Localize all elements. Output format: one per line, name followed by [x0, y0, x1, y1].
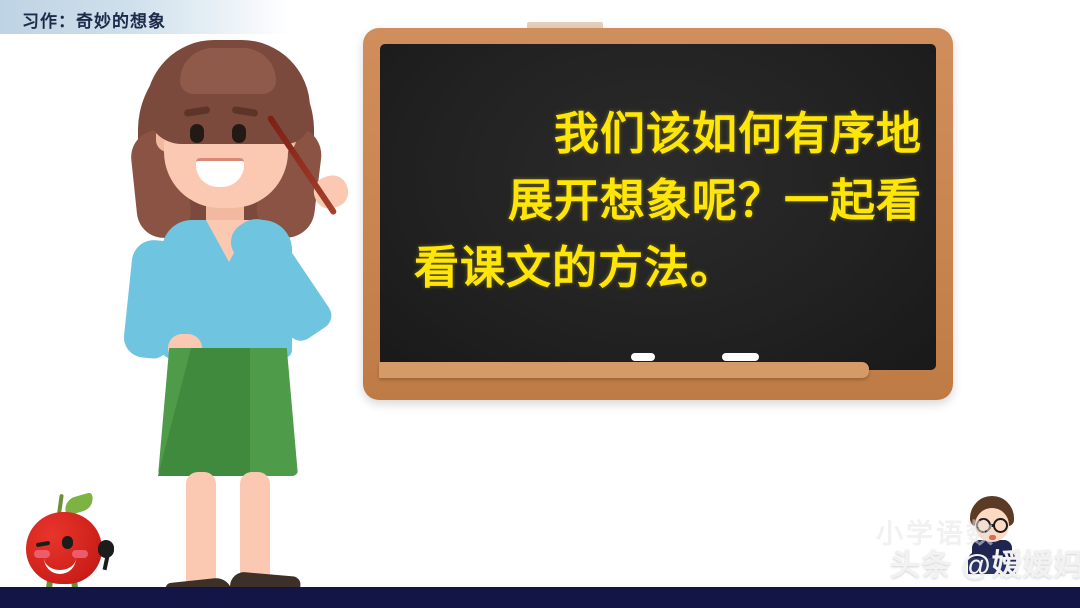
blackboard-surface: 我们该如何有序地 展开想象呢？一起看 看课文的方法。: [380, 44, 936, 370]
blackboard-text: 我们该如何有序地 展开想象呢？一起看 看课文的方法。: [402, 100, 922, 301]
apple-mascot: [10, 492, 130, 596]
presentation-slide: 习作：奇妙的想象 我们该如何有序地 展开想象呢？一起看 看课文的方法。: [0, 0, 1080, 608]
bottom-accent-bar: [0, 587, 1080, 608]
blackboard-line-3: 看课文的方法。: [402, 234, 922, 301]
chalk-piece: [722, 353, 759, 361]
apple-eye-open: [62, 536, 73, 549]
microphone-icon: [98, 540, 114, 558]
teacher-leg-left: [186, 472, 216, 594]
blackboard-frame: 我们该如何有序地 展开想象呢？一起看 看课文的方法。: [363, 28, 953, 400]
teacher-eye-right: [232, 124, 246, 143]
chalk-piece: [631, 353, 655, 361]
teacher-illustration: [110, 34, 410, 594]
page-title: 习作：奇妙的想象: [22, 7, 166, 32]
teacher-eye-left: [190, 124, 204, 143]
blackboard-line-1: 我们该如何有序地: [402, 100, 922, 167]
title-banner: 习作：奇妙的想象: [0, 0, 290, 34]
teacher-hair-highlight: [180, 48, 276, 94]
blackboard-line-2: 展开想象呢？一起看: [402, 167, 922, 234]
watermark-handle: 头条 @嫒嫒妈: [890, 540, 1080, 584]
chalk-tray: [379, 362, 869, 378]
